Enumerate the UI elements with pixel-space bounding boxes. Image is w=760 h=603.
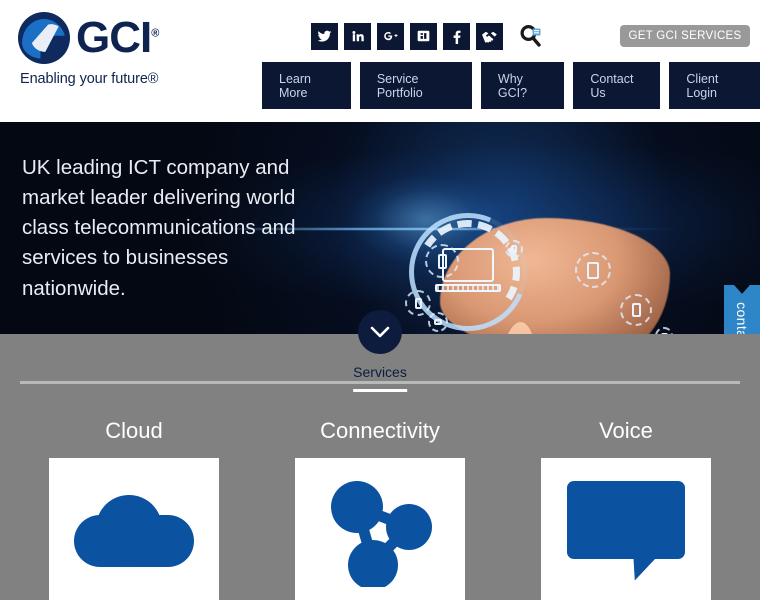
main-nav: Learn More Service Portfolio Why GCI? Co… bbox=[262, 62, 760, 109]
mobile-phone-icon bbox=[425, 244, 459, 278]
contact-us-tab[interactable]: contact us bbox=[724, 285, 760, 334]
site-logo[interactable]: GCI® Enabling your future® bbox=[18, 12, 218, 97]
contact-us-tab-label: contact us bbox=[734, 302, 750, 334]
usb-icon bbox=[505, 240, 523, 258]
cordless-phone-icon bbox=[620, 294, 652, 326]
tablet-icon bbox=[575, 252, 611, 288]
logo-tagline: Enabling your future® bbox=[20, 71, 218, 87]
service-card-voice[interactable]: Voice bbox=[541, 418, 711, 603]
gci-globe-logo-icon bbox=[18, 12, 70, 64]
service-card-image bbox=[541, 458, 711, 603]
services-section: Services Cloud Connectivity V bbox=[0, 334, 760, 600]
service-card-image bbox=[49, 458, 219, 603]
service-card-title: Cloud bbox=[105, 418, 162, 444]
network-nodes-icon bbox=[325, 475, 435, 587]
nav-item-service-portfolio[interactable]: Service Portfolio bbox=[360, 62, 472, 109]
service-card-title: Connectivity bbox=[320, 418, 440, 444]
logo-wordmark: GCI® bbox=[76, 16, 158, 60]
twitter-icon[interactable] bbox=[311, 23, 338, 50]
social-links bbox=[311, 22, 545, 50]
youtube-icon[interactable] bbox=[410, 23, 437, 50]
logo-registered-mark: ® bbox=[151, 27, 158, 39]
nav-item-learn-more[interactable]: Learn More bbox=[262, 62, 351, 109]
cloud-icon bbox=[74, 495, 194, 567]
nav-item-client-login[interactable]: Client Login bbox=[669, 62, 760, 109]
get-gci-services-button[interactable]: GET GCI SERVICES bbox=[620, 25, 750, 47]
linkedin-icon[interactable] bbox=[344, 23, 371, 50]
handshake-icon[interactable] bbox=[476, 23, 503, 50]
camera-icon-small bbox=[428, 312, 448, 332]
service-card-cloud[interactable]: Cloud bbox=[49, 418, 219, 603]
speech-bubble-icon bbox=[567, 481, 685, 581]
services-cards: Cloud Connectivity Voice bbox=[0, 418, 760, 603]
site-header: GCI® Enabling your future® bbox=[0, 0, 760, 122]
nav-item-contact-us[interactable]: Contact Us bbox=[573, 62, 660, 109]
facebook-icon[interactable] bbox=[443, 23, 470, 50]
nav-item-why-gci[interactable]: Why GCI? bbox=[481, 62, 564, 109]
service-card-title: Voice bbox=[599, 418, 653, 444]
battery-icon bbox=[405, 290, 431, 316]
google-plus-icon[interactable] bbox=[377, 23, 404, 50]
service-card-connectivity[interactable]: Connectivity bbox=[295, 418, 465, 603]
logo-wordmark-text: GCI bbox=[76, 13, 151, 62]
chevron-down-icon bbox=[369, 325, 391, 339]
scroll-down-button[interactable] bbox=[358, 310, 402, 354]
service-card-image bbox=[295, 458, 465, 603]
hero-headline: UK leading ICT company and market leader… bbox=[22, 153, 322, 304]
tab-services[interactable]: Services bbox=[353, 364, 407, 392]
search-icon[interactable] bbox=[517, 22, 545, 50]
